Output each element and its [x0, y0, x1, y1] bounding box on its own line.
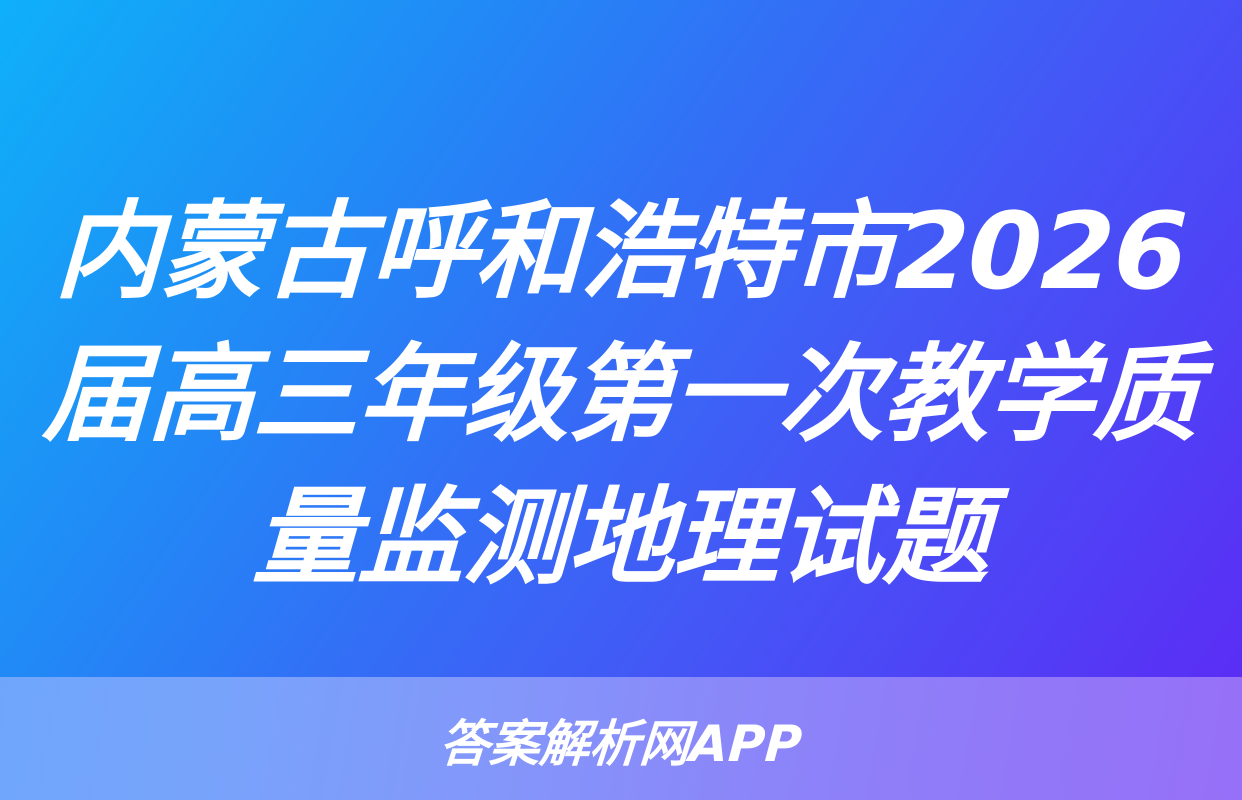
poster-title: 内蒙古呼和浩特市2026 届高三年级第一次教学质 量监测地理试题: [0, 180, 1242, 609]
app-watermark-label: 答案解析网APP: [437, 704, 804, 776]
title-line-2: 届高三年级第一次教学质: [0, 323, 1242, 466]
title-line-3: 量监测地理试题: [0, 466, 1242, 609]
title-line-1: 内蒙古呼和浩特市2026: [0, 180, 1242, 323]
footer-band: 答案解析网APP: [0, 677, 1242, 800]
poster-canvas: 内蒙古呼和浩特市2026 届高三年级第一次教学质 量监测地理试题 答案解析网AP…: [0, 0, 1242, 800]
